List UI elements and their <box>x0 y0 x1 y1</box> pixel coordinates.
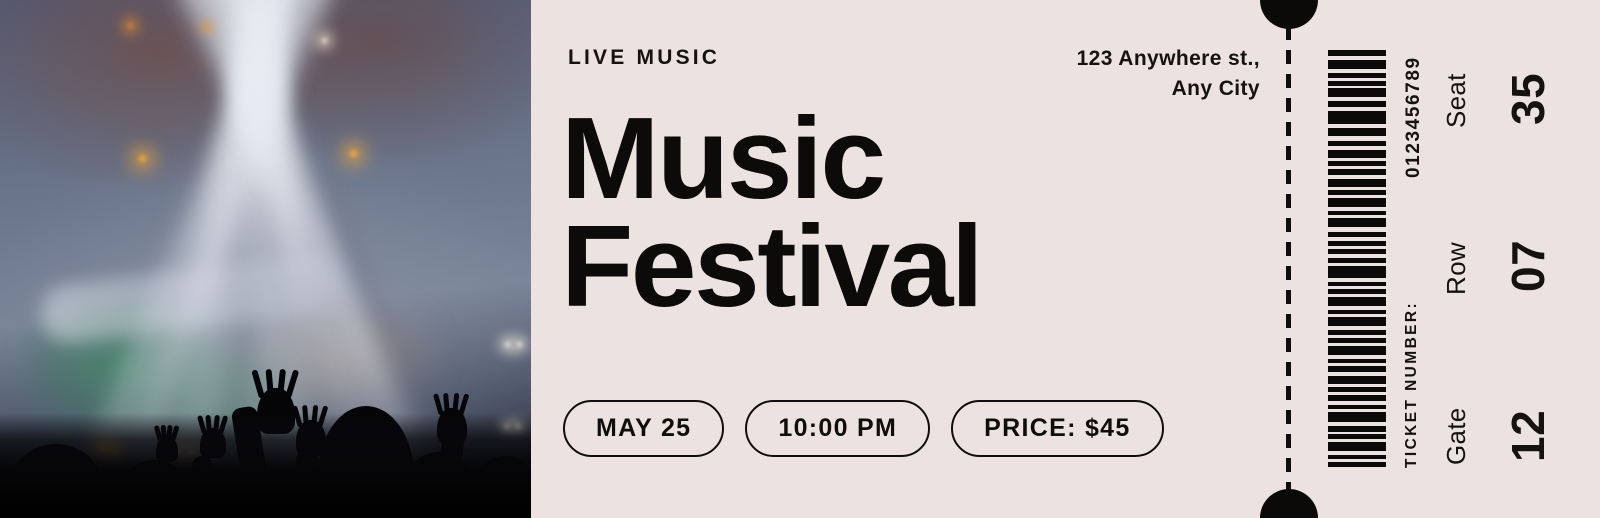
row-value: 07 <box>1501 240 1555 292</box>
barcode-bar <box>1328 346 1386 355</box>
pill-price[interactable]: PRICE: $45 <box>951 400 1163 457</box>
barcode-bar <box>1328 412 1386 422</box>
photo-hand-finger <box>286 369 301 398</box>
barcode-bar <box>1328 150 1386 158</box>
photo-hand-finger <box>251 369 265 398</box>
barcode-bar <box>1328 169 1386 175</box>
gate-label: Gate <box>1441 407 1472 465</box>
barcode-bar <box>1328 111 1386 124</box>
barcode-bar <box>1328 434 1386 439</box>
seat-value: 35 <box>1501 73 1555 125</box>
barcode-bar <box>1328 241 1386 246</box>
barcode-bar <box>1328 462 1386 467</box>
venue-address: 123 Anywhere st., Any City <box>860 44 1260 104</box>
barcode-bar <box>1328 81 1386 86</box>
photo-crowd-base <box>0 413 531 518</box>
event-ticket: LIVE MUSIC 123 Anywhere st., Any City Mu… <box>0 0 1600 518</box>
photo-point-light <box>139 155 146 162</box>
barcode-bar <box>1328 60 1386 70</box>
barcode-bar <box>1328 297 1386 306</box>
barcode-bar <box>1328 179 1386 188</box>
barcode-bar <box>1328 88 1386 97</box>
barcode-bar <box>1328 395 1386 401</box>
gate-value: 12 <box>1501 410 1555 462</box>
ticket-main-panel: LIVE MUSIC 123 Anywhere st., Any City Mu… <box>531 0 1288 518</box>
barcode-bar <box>1328 317 1386 326</box>
barcode-bar <box>1328 455 1386 460</box>
seat-label: Seat <box>1441 73 1472 128</box>
barcode-bar <box>1328 282 1386 287</box>
barcode-bar <box>1328 211 1386 216</box>
barcode-bar <box>1328 141 1386 146</box>
barcode-bar <box>1328 359 1386 364</box>
barcode-bar <box>1328 289 1386 294</box>
photo-point-light <box>128 23 133 28</box>
photo-hand-finger <box>444 393 451 416</box>
photo-point-light <box>322 38 327 43</box>
photo-point-light <box>205 25 209 29</box>
barcode-bar <box>1328 405 1386 410</box>
barcode-bar <box>1328 190 1386 195</box>
ticket-number-value: 0123456789 <box>1403 56 1425 178</box>
pill-time[interactable]: 10:00 PM <box>745 400 930 457</box>
barcode-bar <box>1328 366 1386 372</box>
barcode-bar <box>1328 442 1386 451</box>
row-label: Row <box>1441 242 1472 295</box>
barcode-bar <box>1328 330 1386 336</box>
barcode <box>1328 50 1386 470</box>
pill-date[interactable]: MAY 25 <box>563 400 724 457</box>
photo-hand-finger <box>265 368 274 397</box>
barcode-bar <box>1328 338 1386 343</box>
barcode-bar <box>1328 266 1386 278</box>
eyebrow-label: LIVE MUSIC <box>568 46 720 70</box>
photo-crowd-silhouette <box>0 328 531 518</box>
page-title: Music Festival <box>561 105 981 321</box>
barcode-bar <box>1328 258 1386 264</box>
photo-point-light <box>350 150 357 157</box>
barcode-bar <box>1328 50 1386 56</box>
barcode-bar <box>1328 232 1386 238</box>
barcode-bar <box>1328 101 1386 107</box>
ticket-number-label: TICKET NUMBER: <box>1403 301 1421 468</box>
ticket-stub: TICKET NUMBER: 0123456789 Seat 35 Row 07… <box>1291 0 1600 518</box>
barcode-bar <box>1328 161 1386 166</box>
barcode-bar <box>1328 310 1386 315</box>
barcode-bar <box>1328 387 1386 392</box>
barcode-bar <box>1328 198 1386 207</box>
detail-pill-row: MAY 2510:00 PMPRICE: $45 <box>563 400 1164 457</box>
barcode-bar <box>1328 73 1386 78</box>
concert-photo <box>0 0 531 518</box>
barcode-bar <box>1328 249 1386 254</box>
barcode-bar <box>1328 218 1386 227</box>
barcode-bar <box>1328 376 1386 385</box>
barcode-bar <box>1328 128 1386 137</box>
barcode-bar <box>1328 426 1386 432</box>
